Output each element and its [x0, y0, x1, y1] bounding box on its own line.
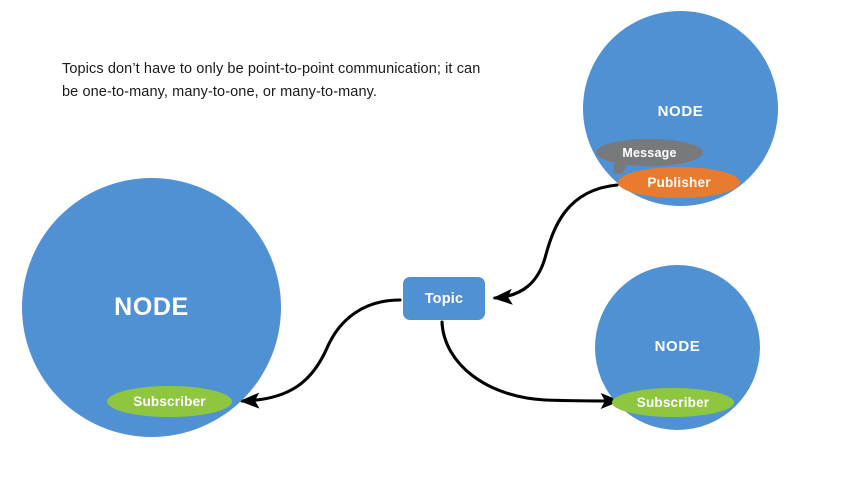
diagram-canvas: Topics don’t have to only be point-to-po…: [0, 0, 854, 480]
arrow-topic-to-subscriber-bottomright: [442, 322, 618, 401]
node-left-label: NODE: [22, 293, 281, 322]
message-bubble: Message: [596, 139, 703, 166]
subscriber-badge-bottom-right[interactable]: Subscriber: [612, 388, 734, 417]
subscriber-badge-left[interactable]: Subscriber: [107, 386, 232, 417]
caption-text: Topics don’t have to only be point-to-po…: [62, 58, 482, 104]
node-top-right-label: NODE: [583, 103, 778, 120]
arrow-publisher-to-topic: [495, 185, 617, 298]
publisher-badge[interactable]: Publisher: [618, 167, 740, 198]
node-bottom-right-label: NODE: [595, 338, 760, 355]
topic-box[interactable]: Topic: [403, 277, 485, 320]
